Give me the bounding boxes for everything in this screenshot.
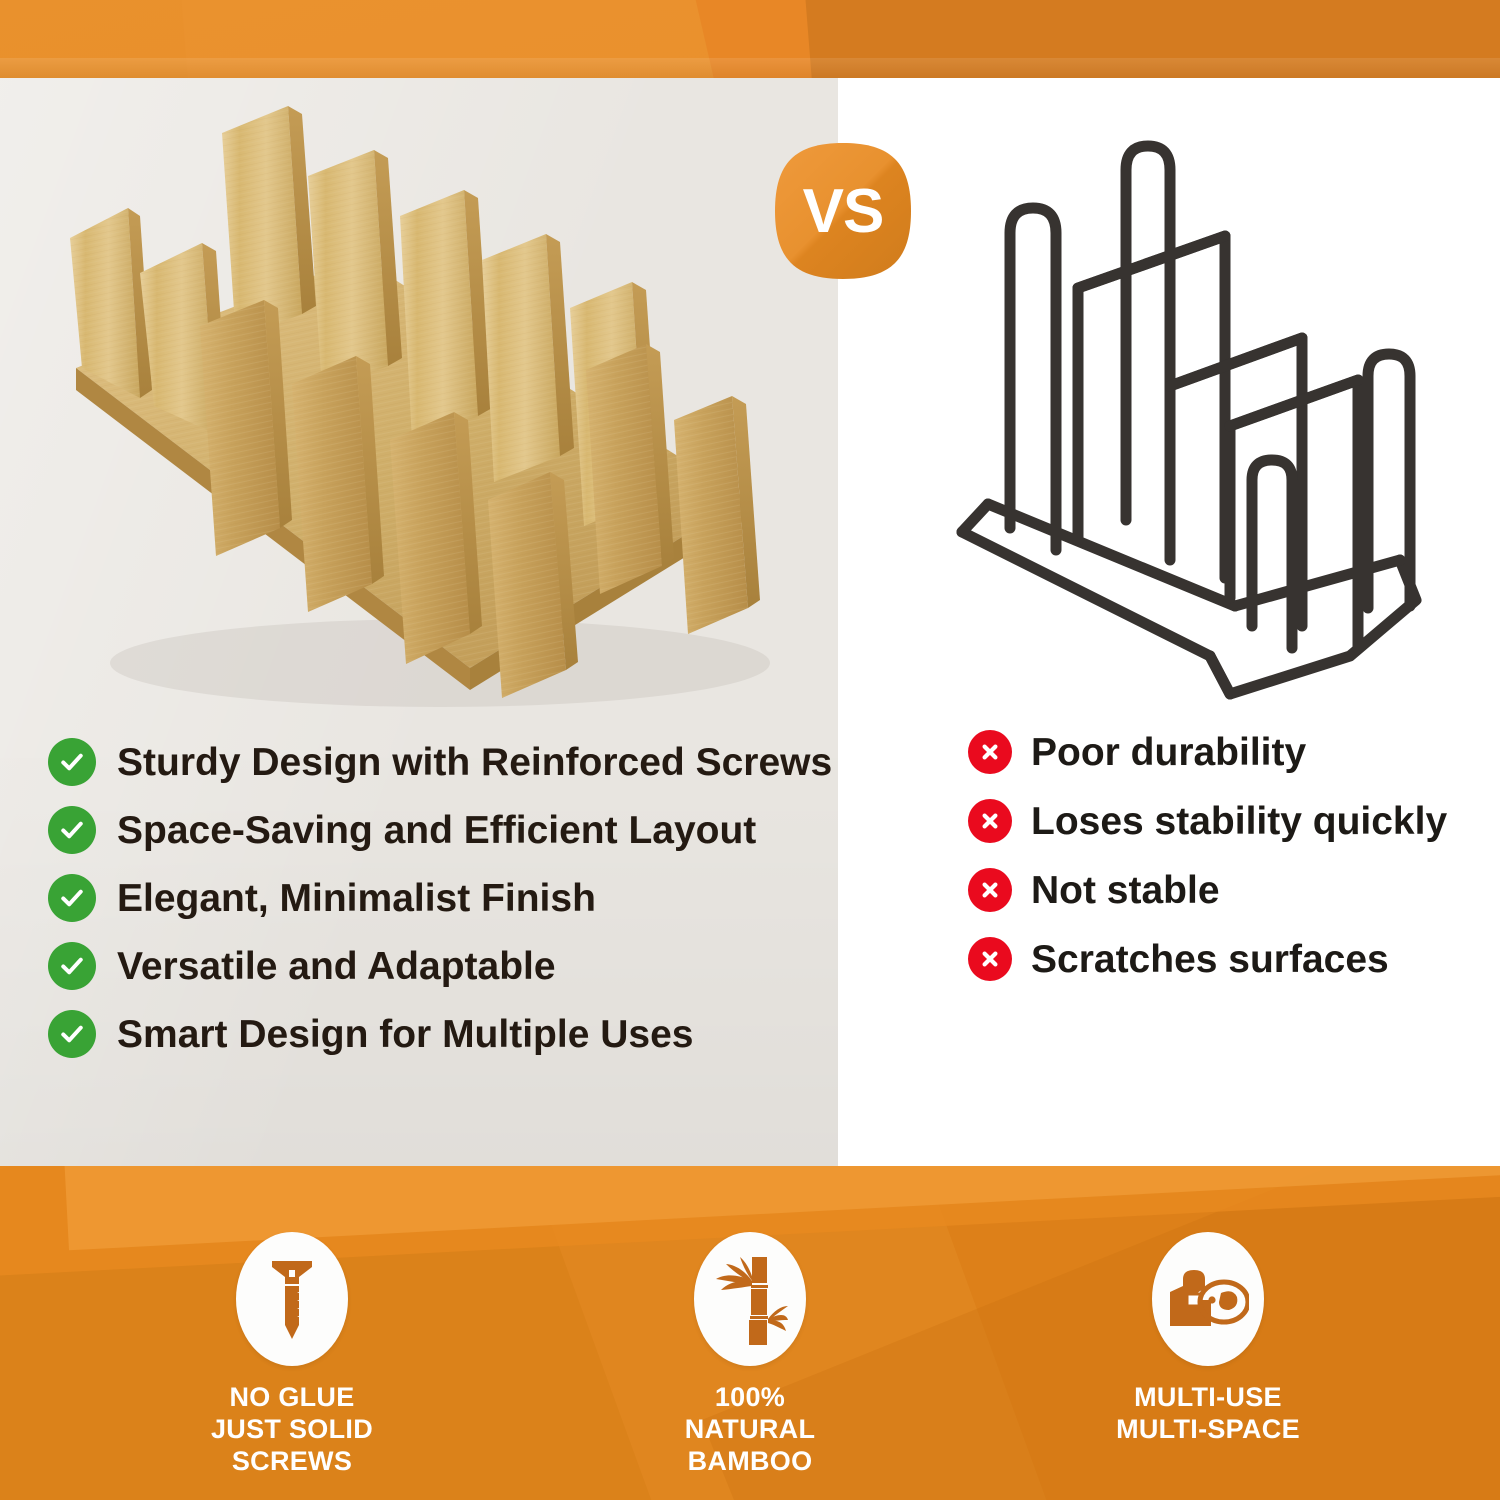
- con-label: Loses stability quickly: [1031, 802, 1447, 841]
- pro-label: Versatile and Adaptable: [117, 947, 556, 986]
- con-label: Poor durability: [1031, 733, 1306, 772]
- badge-line-1: 100%: [715, 1382, 785, 1412]
- pro-label: Space-Saving and Efficient Layout: [117, 811, 756, 850]
- list-item: Smart Design for Multiple Uses: [48, 1010, 828, 1058]
- con-label: Not stable: [1031, 871, 1220, 910]
- feature-badges: NO GLUE JUST SOLID SCREWS: [0, 1232, 1500, 1462]
- list-item: Scratches surfaces: [968, 937, 1468, 981]
- top-orange-band: [0, 0, 1500, 80]
- list-item: Loses stability quickly: [968, 799, 1468, 843]
- band-edge-shade: [0, 58, 1500, 80]
- check-icon: [48, 874, 96, 922]
- badge-line-1: MULTI-USE: [1134, 1382, 1282, 1412]
- x-icon: [968, 868, 1012, 912]
- badge-label: NO GLUE JUST SOLID SCREWS: [177, 1382, 407, 1478]
- cons-list: Poor durability Loses stability quickly …: [968, 730, 1468, 1006]
- pro-label: Sturdy Design with Reinforced Screws: [117, 743, 832, 782]
- check-icon: [48, 1010, 96, 1058]
- wire-rack-image: [930, 108, 1470, 708]
- pro-label: Smart Design for Multiple Uses: [117, 1015, 693, 1054]
- pros-list: Sturdy Design with Reinforced Screws Spa…: [48, 738, 828, 1078]
- badge-circle: [1152, 1232, 1264, 1366]
- bamboo-icon: [712, 1253, 788, 1345]
- list-item: Versatile and Adaptable: [48, 942, 828, 990]
- check-icon: [48, 738, 96, 786]
- badge-multi-use: MULTI-USE MULTI-SPACE: [1093, 1232, 1323, 1446]
- con-label: Scratches surfaces: [1031, 940, 1389, 979]
- badge-line-2: MULTI-SPACE: [1116, 1414, 1300, 1446]
- pro-label: Elegant, Minimalist Finish: [117, 879, 596, 918]
- list-item: Sturdy Design with Reinforced Screws: [48, 738, 828, 786]
- list-item: Elegant, Minimalist Finish: [48, 874, 828, 922]
- comparison-body: Sturdy Design with Reinforced Screws Spa…: [0, 78, 1500, 1166]
- vs-label: VS: [772, 140, 914, 282]
- x-icon: [968, 730, 1012, 774]
- badge-line-1: NO GLUE: [229, 1382, 354, 1412]
- cookware-icon: [1167, 1264, 1249, 1334]
- badge-label: MULTI-USE MULTI-SPACE: [1116, 1382, 1300, 1446]
- badge-circle: [236, 1232, 348, 1366]
- badge-label: 100% NATURAL BAMBOO: [635, 1382, 865, 1478]
- list-item: Not stable: [968, 868, 1468, 912]
- vs-badge: VS: [772, 140, 914, 282]
- x-icon: [968, 799, 1012, 843]
- badge-natural-bamboo: 100% NATURAL BAMBOO: [635, 1232, 865, 1478]
- screw-icon: [263, 1256, 321, 1342]
- x-icon: [968, 937, 1012, 981]
- check-icon: [48, 806, 96, 854]
- badge-line-2: JUST SOLID SCREWS: [177, 1414, 407, 1478]
- list-item: Poor durability: [968, 730, 1468, 774]
- list-item: Space-Saving and Efficient Layout: [48, 806, 828, 854]
- bamboo-rack-image: [40, 78, 800, 728]
- badge-line-2: NATURAL BAMBOO: [635, 1414, 865, 1478]
- badge-no-glue: NO GLUE JUST SOLID SCREWS: [177, 1232, 407, 1478]
- check-icon: [48, 942, 96, 990]
- infographic-canvas: Sturdy Design with Reinforced Screws Spa…: [0, 0, 1500, 1500]
- badge-circle: [694, 1232, 806, 1366]
